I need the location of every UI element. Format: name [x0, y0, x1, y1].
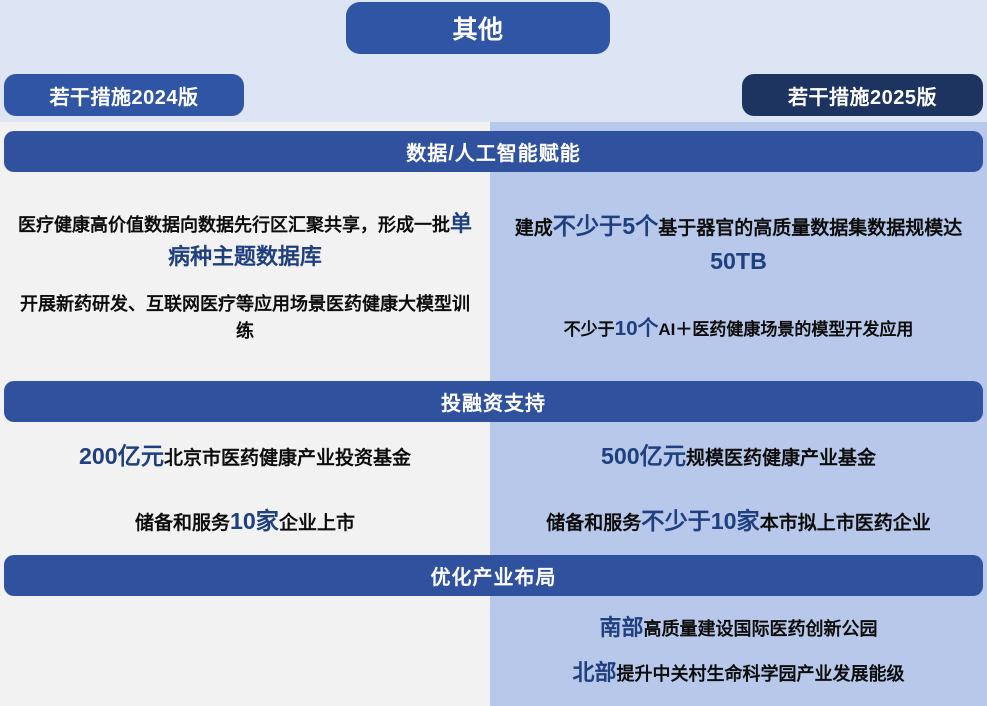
section-row-data-ai: 医疗健康高价值数据向数据先行区汇聚共享，形成一批单病种主题数据库 开展新药研发、…: [0, 172, 987, 381]
body-text: 本市拟上市医药企业: [760, 513, 931, 534]
paragraph: 储备和服务10家企业上市: [14, 504, 476, 539]
cell-2025-data-ai: 建成不少于5个基于器官的高质量数据集数据规模达50TB 不少于10个AI＋医药健…: [490, 172, 987, 381]
paragraph: 不少于10个AI＋医药健康场景的模型开发应用: [504, 313, 973, 344]
paragraph: 建成不少于5个基于器官的高质量数据集数据规模达50TB: [504, 209, 973, 279]
body-text: AI＋医药健康场景的模型开发应用: [658, 320, 913, 339]
body-text: 规模医药健康产业基金: [686, 448, 876, 469]
column-label-2025: 若干措施2025版: [742, 74, 983, 116]
cell-2024-investment: 200亿元北京市医药健康产业投资基金 储备和服务10家企业上市: [0, 422, 490, 555]
body-text: 开展新药研发、互联网医疗等应用场景医药健康大模型训练: [20, 294, 470, 341]
highlight-text: 不少于5个: [553, 213, 659, 239]
section-row-investment: 200亿元北京市医药健康产业投资基金 储备和服务10家企业上市 500亿元规模医…: [0, 422, 987, 555]
paragraph: 500亿元规模医药健康产业基金: [504, 439, 973, 474]
body-text: 企业上市: [279, 513, 355, 534]
page-title: 其他: [346, 2, 610, 54]
paragraph: 开展新药研发、互联网医疗等应用场景医药健康大模型训练: [14, 291, 476, 345]
highlight-text: 不少于10家: [641, 508, 759, 534]
cell-2025-industry-layout: 南部高质量建设国际医药创新公园 北部提升中关村生命科学园产业发展能级: [490, 596, 987, 706]
highlight-text: 500亿元: [601, 443, 686, 469]
highlight-text: 10家: [230, 508, 279, 534]
section-heading-industry-layout: 优化产业布局: [4, 555, 983, 596]
cell-2024-industry-layout: [0, 596, 490, 706]
body-text: 基于器官的高质量数据集数据规模达: [658, 218, 962, 239]
paragraph: 200亿元北京市医药健康产业投资基金: [14, 439, 476, 474]
section-heading-data-ai: 数据/人工智能赋能: [4, 131, 983, 172]
highlight-text: 200亿元: [79, 443, 164, 469]
body-text: 不少于: [564, 320, 615, 339]
section-heading-investment: 投融资支持: [4, 381, 983, 422]
paragraph: 北部提升中关村生命科学园产业发展能级: [504, 657, 973, 690]
paragraph: 南部高质量建设国际医药创新公园: [504, 612, 973, 645]
body-text: 医疗健康高价值数据向数据先行区汇聚共享，形成一批: [18, 215, 450, 235]
body-text: 建成: [515, 218, 553, 239]
highlight-text: 南部: [600, 615, 644, 640]
body-text: 储备和服务: [546, 513, 641, 534]
infographic-root: 其他 若干措施2024版 若干措施2025版 数据/人工智能赋能 医疗健康高价值…: [0, 0, 987, 706]
body-text: 提升中关村生命科学园产业发展能级: [616, 664, 904, 684]
body-text: 北京市医药健康产业投资基金: [164, 448, 411, 469]
highlight-text: 10个: [615, 317, 659, 340]
body-text: 储备和服务: [135, 513, 230, 534]
highlight-text: 北部: [573, 660, 617, 685]
paragraph: 储备和服务不少于10家本市拟上市医药企业: [504, 504, 973, 539]
body-text: 高质量建设国际医药创新公园: [643, 619, 877, 639]
column-label-2024: 若干措施2024版: [4, 74, 244, 116]
highlight-text: 50TB: [710, 248, 767, 274]
cell-2025-investment: 500亿元规模医药健康产业基金 储备和服务不少于10家本市拟上市医药企业: [490, 422, 987, 555]
cell-2024-data-ai: 医疗健康高价值数据向数据先行区汇聚共享，形成一批单病种主题数据库 开展新药研发、…: [0, 172, 490, 381]
section-row-industry-layout: 南部高质量建设国际医药创新公园 北部提升中关村生命科学园产业发展能级: [0, 596, 987, 706]
paragraph: 医疗健康高价值数据向数据先行区汇聚共享，形成一批单病种主题数据库: [14, 208, 476, 274]
